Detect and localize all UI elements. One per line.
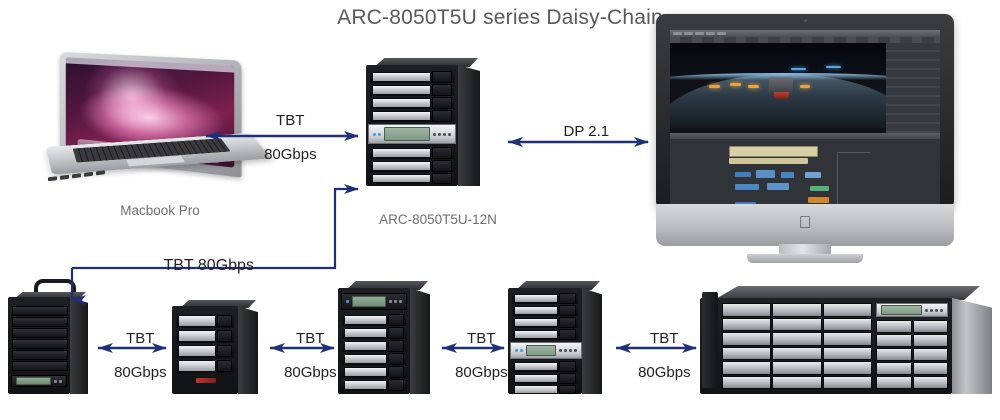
drive-bay (823, 303, 872, 317)
device-side (410, 288, 430, 394)
light-flare (730, 83, 741, 86)
drive-tray (342, 340, 406, 352)
drive-bay (772, 376, 821, 390)
timeline-clip (810, 186, 829, 191)
drive-tray (512, 385, 578, 394)
drive-slot (12, 339, 68, 349)
imac-display:  (656, 14, 954, 260)
status-leds (346, 300, 349, 303)
light-flare (800, 85, 811, 88)
device-control-panel[interactable] (11, 375, 67, 387)
timeline-playhead[interactable] (837, 152, 838, 208)
link-label-chain-3-4: TBT 80Gbps (433, 313, 513, 398)
four-bay-tower (172, 300, 264, 394)
timeline-clip (735, 172, 751, 177)
rack-drive-grid-left (722, 303, 872, 389)
link-label-mbp-tower: TBT 80Gbps (212, 95, 352, 180)
timeline-clip (805, 172, 821, 178)
lcd-buttons[interactable] (389, 300, 402, 303)
device-lcd-panel[interactable] (510, 342, 582, 359)
drive-slot (12, 361, 68, 371)
drive-tray (342, 327, 406, 339)
drive-tray (512, 293, 578, 304)
lcd-buttons[interactable] (433, 133, 451, 136)
link-label-chain-4-5: TBT 80Gbps (616, 313, 696, 398)
drive-bay (823, 332, 872, 346)
drive-tray (342, 366, 406, 378)
drive-tray (176, 314, 234, 328)
imac-stand-foot (747, 254, 863, 263)
drive-tray (370, 173, 454, 184)
drive-tray (512, 329, 578, 340)
arc-8050t5u-12n-caption: ARC-8050T5U-12N (358, 212, 518, 227)
drive-bay (913, 334, 949, 347)
drive-tray (342, 353, 406, 365)
drive-tray (370, 110, 454, 122)
drive-tray (512, 373, 578, 384)
drive-tray (176, 359, 234, 373)
drive-tray (512, 305, 578, 316)
drive-tray (512, 317, 578, 328)
lcd-screen (526, 345, 556, 356)
drive-slot (12, 328, 68, 338)
drive-tray (512, 361, 578, 372)
lcd-buttons[interactable] (559, 349, 577, 352)
light-flare (748, 85, 759, 88)
timeline-marker (837, 152, 869, 153)
drive-bay (772, 361, 821, 375)
lcd-screen (352, 296, 386, 307)
drive-bay (823, 347, 872, 361)
drive-bay (876, 362, 912, 375)
drive-tray (342, 314, 406, 326)
status-leds (373, 133, 381, 136)
six-bay-lcd-tower (338, 281, 438, 394)
tower-lcd-panel[interactable] (368, 124, 456, 144)
drive-bay (772, 303, 821, 317)
drive-bay (876, 334, 912, 347)
drive-bay (913, 362, 949, 375)
device-side (70, 297, 88, 394)
rackmount-enclosure (700, 286, 992, 394)
drive-bay (722, 361, 771, 375)
drive-bay (722, 376, 771, 390)
link-label-tower-imac: DP 2.1 (508, 106, 648, 157)
drive-bay (823, 318, 872, 332)
status-leds (515, 349, 523, 352)
rack-drive-grid-right (876, 320, 948, 389)
drive-tray (176, 344, 234, 358)
link-label-tower-chain: TBT 80Gbps (100, 240, 300, 291)
drive-bay (876, 320, 912, 333)
blue-streak (826, 66, 841, 68)
timeline-clip (729, 146, 817, 157)
app-viewer (670, 43, 886, 133)
device-side (238, 306, 258, 394)
drive-bay (772, 318, 821, 332)
timeline-clip (735, 184, 759, 189)
lcd-buttons[interactable] (925, 309, 943, 312)
timeline-clip (808, 197, 830, 203)
device-lcd-panel[interactable] (341, 293, 407, 310)
eight-bay-lcd-tower (508, 281, 612, 394)
lcd-screen (384, 127, 430, 140)
drive-bay (913, 320, 949, 333)
light-flare (709, 85, 720, 88)
app-toolbar (670, 30, 940, 37)
drive-tray (342, 379, 406, 391)
drive-bay (823, 361, 872, 375)
drive-bay (772, 347, 821, 361)
panel-buttons[interactable] (54, 380, 62, 383)
drive-tray (370, 97, 454, 109)
drive-slot (12, 350, 68, 360)
drive-bay (876, 376, 912, 389)
timeline-clip (756, 170, 775, 178)
link-label-chain-1-2: TBT 80Gbps (92, 313, 172, 398)
rack-side (952, 298, 992, 394)
macbook-caption: Macbook Pro (100, 203, 220, 218)
brand-logo (196, 378, 216, 383)
link-label-chain-2-3: TBT 80Gbps (262, 313, 342, 398)
rack-mount-ear (702, 292, 718, 388)
drive-bay (772, 332, 821, 346)
rack-lcd-panel[interactable] (876, 303, 948, 317)
diagram-canvas: ARC-8050T5U series Daisy-Chain Macbook P… (0, 0, 1000, 420)
blue-streak (791, 68, 806, 70)
apple-logo-icon:  (797, 214, 813, 232)
drive-bay (722, 332, 771, 346)
drive-bay (823, 376, 872, 390)
drive-bay (722, 303, 771, 317)
tower-side (458, 65, 480, 186)
lcd-screen (881, 305, 922, 314)
timeline-clip (781, 172, 795, 177)
portable-tower (8, 292, 94, 394)
spacecraft (769, 77, 793, 93)
device-side (582, 288, 602, 394)
drive-tray (370, 84, 454, 96)
app-inspector-panel (886, 43, 940, 133)
drive-slot (12, 317, 68, 327)
timeline-clip (729, 158, 807, 164)
drive-bay (913, 348, 949, 361)
drive-bay (722, 347, 771, 361)
drive-bay (722, 318, 771, 332)
drive-slot (12, 306, 68, 316)
drive-bay (876, 348, 912, 361)
drive-bay (913, 376, 949, 389)
lcd-screen (16, 377, 51, 385)
arc-8050t5u-12n (366, 58, 494, 186)
space-sky (670, 43, 886, 75)
timeline-clip (767, 183, 789, 189)
drive-tray (370, 147, 454, 159)
drive-tray (370, 160, 454, 172)
drive-tray (176, 329, 234, 343)
imac-camera (804, 19, 807, 22)
drive-tray (370, 71, 454, 83)
